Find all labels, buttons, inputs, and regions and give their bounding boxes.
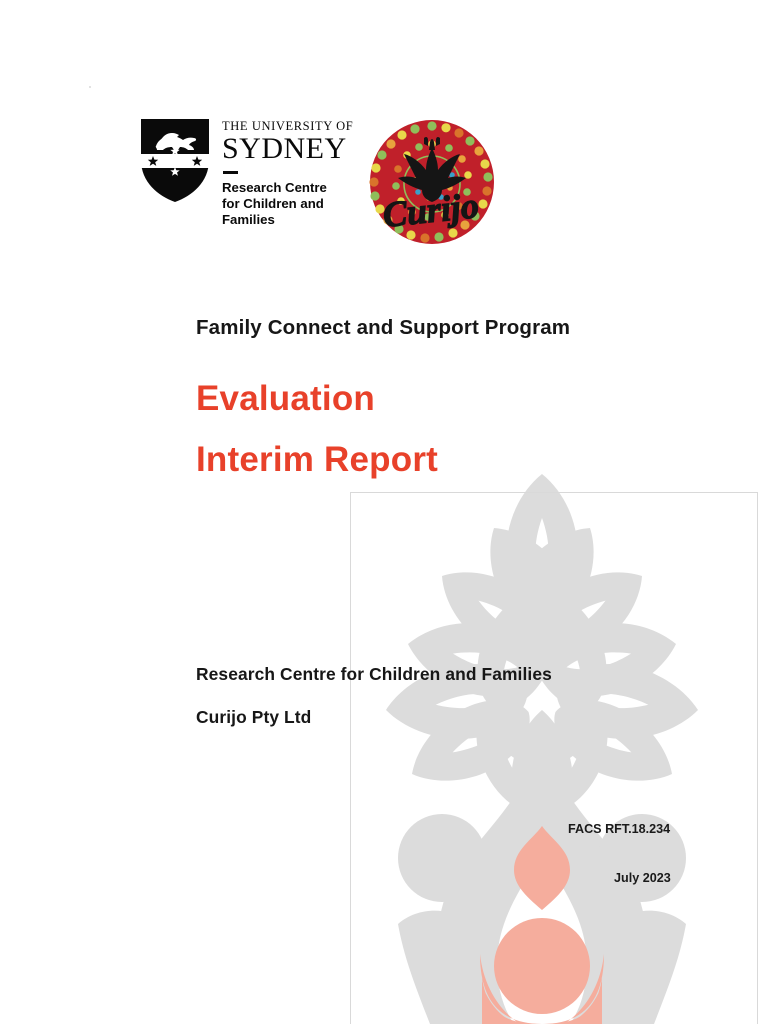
centre-line-3: Families (222, 212, 354, 228)
wordmark-divider (223, 171, 238, 174)
author-line-2: Curijo Pty Ltd (196, 696, 552, 739)
sydney-crest-icon (138, 116, 212, 204)
curijo-circular-logo-icon: Curijo (368, 118, 496, 246)
program-subtitle: Family Connect and Support Program (196, 316, 570, 340)
centre-line-1: Research Centre (222, 180, 354, 196)
author-block: Research Centre for Children and Familie… (196, 653, 552, 738)
author-line-1: Research Centre for Children and Familie… (196, 653, 552, 696)
report-title: Evaluation Interim Report (196, 369, 438, 491)
logo-row: THE UNIVERSITY OF SYDNEY Research Centre… (138, 116, 496, 246)
report-date: July 2023 (614, 871, 671, 885)
reference-code: FACS RFT.18.234 (568, 822, 670, 836)
cover-page: THE UNIVERSITY OF SYDNEY Research Centre… (0, 0, 770, 1024)
university-line-the: THE UNIVERSITY OF (222, 120, 354, 133)
report-title-line-2: Interim Report (196, 430, 438, 491)
page-speck (89, 86, 91, 88)
university-of-sydney-logo: THE UNIVERSITY OF SYDNEY Research Centre… (138, 116, 354, 228)
report-title-line-1: Evaluation (196, 369, 438, 430)
university-line-name: SYDNEY (222, 134, 354, 165)
family-tree-watermark-icon (346, 458, 738, 1024)
university-wordmark: THE UNIVERSITY OF SYDNEY Research Centre… (222, 116, 354, 228)
centre-line-2: for Children and (222, 196, 354, 212)
